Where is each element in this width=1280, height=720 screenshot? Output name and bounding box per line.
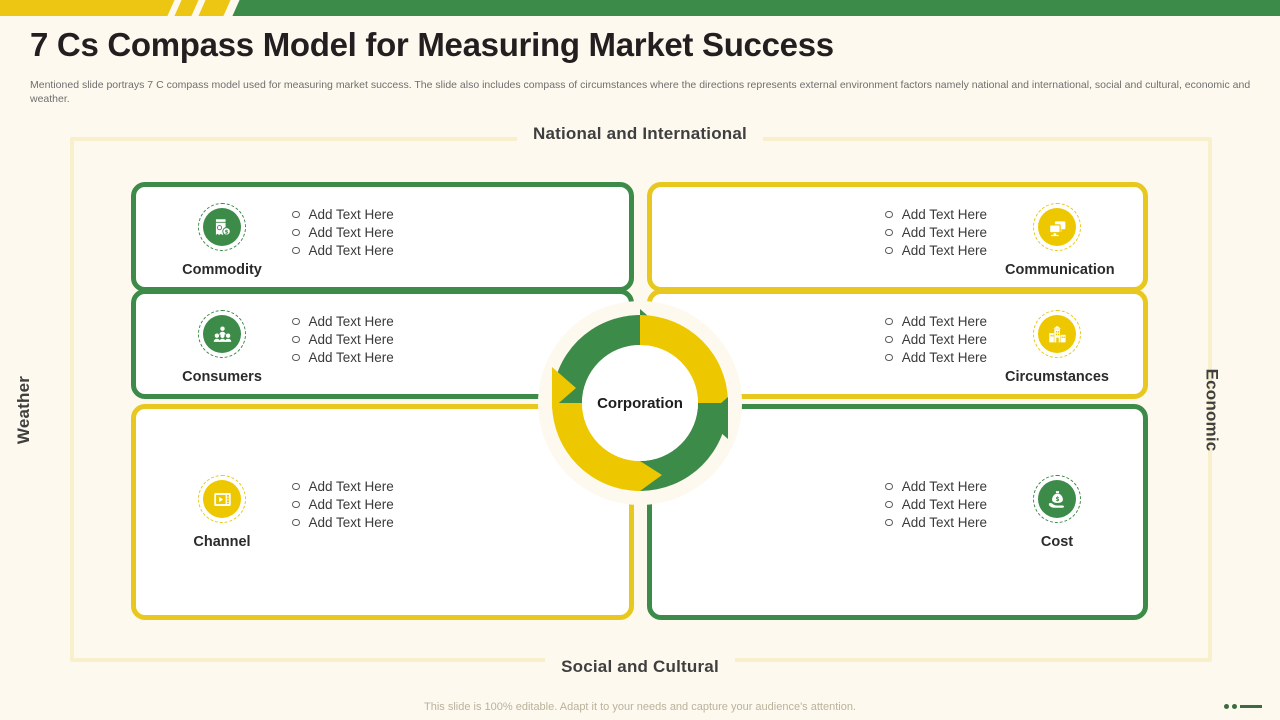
list-item: Add Text Here: [292, 224, 394, 242]
media-player-icon: [203, 480, 241, 518]
bullet-circle-icon: [292, 318, 300, 326]
list-item: Add Text Here: [292, 478, 394, 496]
list-item-label: Add Text Here: [902, 496, 987, 514]
card-channel-icon-block: Channel: [170, 475, 274, 550]
list-item: Add Text Here: [292, 242, 394, 260]
card-consumers-icon-block: Consumers: [170, 310, 274, 385]
list-item-label: Add Text Here: [902, 478, 987, 496]
card-channel-caption: Channel: [170, 534, 274, 550]
list-item: Add Text Here: [885, 514, 987, 532]
monitor-screens-icon: [1038, 208, 1076, 246]
footer-note: This slide is 100% editable. Adapt it to…: [0, 701, 1280, 713]
bullet-circle-icon: [292, 336, 300, 344]
card-commodity[interactable]: $ Commodity Add Text Here Add Text Here …: [131, 182, 634, 292]
bullet-circle-icon: [292, 483, 300, 491]
list-item-label: Add Text Here: [309, 514, 394, 532]
wheel-center-label: Corporation: [538, 301, 742, 505]
list-item-label: Add Text Here: [902, 514, 987, 532]
list-item-label: Add Text Here: [902, 224, 987, 242]
list-item: Add Text Here: [292, 349, 394, 367]
dashed-ring: $: [1033, 475, 1081, 523]
list-item-label: Add Text Here: [309, 349, 394, 367]
footer-decoration: [1224, 704, 1262, 709]
list-item-label: Add Text Here: [309, 224, 394, 242]
list-item: Add Text Here: [292, 331, 394, 349]
bullet-circle-icon: [885, 336, 893, 344]
list-item: Add Text Here: [885, 349, 987, 367]
card-channel-content: Channel Add Text Here Add Text Here Add …: [170, 475, 394, 550]
bullet-circle-icon: [292, 354, 300, 362]
card-communication-caption: Communication: [1005, 262, 1109, 278]
list-item-label: Add Text Here: [309, 478, 394, 496]
list-item: Add Text Here: [292, 496, 394, 514]
list-item-label: Add Text Here: [309, 313, 394, 331]
footer-dash-icon: [1240, 705, 1262, 708]
list-item: Add Text Here: [885, 496, 987, 514]
card-channel-bullets: Add Text Here Add Text Here Add Text Her…: [292, 475, 394, 533]
card-cost-content: $ Cost Add Text Here Add Text Here Add T…: [885, 475, 1109, 550]
card-circumstances-content: Circumstances Add Text Here Add Text Her…: [885, 310, 1109, 385]
bullet-circle-icon: [292, 229, 300, 237]
topbar-yellow-dash-1: [174, 0, 198, 16]
axis-label-bottom: Social and Cultural: [0, 657, 1280, 677]
card-cost-icon-block: $ Cost: [1005, 475, 1109, 550]
corporation-wheel: Corporation: [538, 301, 742, 505]
card-consumers-caption: Consumers: [170, 369, 274, 385]
bullet-circle-icon: [292, 211, 300, 219]
bullet-circle-icon: [885, 501, 893, 509]
bullet-circle-icon: [885, 211, 893, 219]
bullet-circle-icon: [885, 318, 893, 326]
list-item: Add Text Here: [885, 224, 987, 242]
people-group-icon: [203, 315, 241, 353]
bullet-circle-icon: [292, 519, 300, 527]
axis-label-left: Weather: [14, 376, 34, 444]
axis-label-top: National and International: [0, 124, 1280, 144]
dashed-ring: [198, 310, 246, 358]
svg-text:$: $: [224, 229, 228, 235]
card-commodity-bullets: Add Text Here Add Text Here Add Text Her…: [292, 203, 394, 261]
card-cost-bullets: Add Text Here Add Text Here Add Text Her…: [885, 475, 987, 533]
bullet-circle-icon: [292, 247, 300, 255]
list-item: Add Text Here: [292, 206, 394, 224]
card-circumstances-caption: Circumstances: [1005, 369, 1109, 385]
receipt-money-icon: $: [203, 208, 241, 246]
footer-dot-icon: [1232, 704, 1237, 709]
dashed-ring: $: [198, 203, 246, 251]
list-item: Add Text Here: [885, 478, 987, 496]
svg-text:$: $: [1055, 496, 1059, 502]
card-commodity-icon-block: $ Commodity: [170, 203, 274, 278]
axis-label-right: Economic: [1201, 369, 1221, 452]
card-circumstances-bullets: Add Text Here Add Text Here Add Text Her…: [885, 310, 987, 368]
topbar-yellow-segment: [0, 0, 175, 16]
list-item-label: Add Text Here: [902, 206, 987, 224]
dashed-ring: [198, 475, 246, 523]
card-consumers-bullets: Add Text Here Add Text Here Add Text Her…: [292, 310, 394, 368]
list-item: Add Text Here: [885, 331, 987, 349]
card-communication-icon-block: Communication: [1005, 203, 1109, 278]
list-item: Add Text Here: [292, 514, 394, 532]
axis-label-top-text: National and International: [517, 124, 763, 143]
list-item: Add Text Here: [292, 313, 394, 331]
dashed-ring: [1033, 310, 1081, 358]
list-item-label: Add Text Here: [309, 331, 394, 349]
buildings-icon: [1038, 315, 1076, 353]
footer-dot-icon: [1224, 704, 1229, 709]
bullet-circle-icon: [885, 483, 893, 491]
bullet-circle-icon: [885, 229, 893, 237]
card-communication-bullets: Add Text Here Add Text Here Add Text Her…: [885, 203, 987, 261]
card-cost-caption: Cost: [1005, 534, 1109, 550]
card-commodity-caption: Commodity: [170, 262, 274, 278]
list-item: Add Text Here: [885, 242, 987, 260]
bullet-circle-icon: [292, 501, 300, 509]
list-item-label: Add Text Here: [902, 242, 987, 260]
dashed-ring: [1033, 203, 1081, 251]
list-item-label: Add Text Here: [902, 331, 987, 349]
list-item-label: Add Text Here: [309, 206, 394, 224]
bullet-circle-icon: [885, 519, 893, 527]
list-item-label: Add Text Here: [902, 349, 987, 367]
list-item-label: Add Text Here: [309, 242, 394, 260]
bullet-circle-icon: [885, 354, 893, 362]
list-item: Add Text Here: [885, 313, 987, 331]
list-item: Add Text Here: [885, 206, 987, 224]
card-consumers-content: Consumers Add Text Here Add Text Here Ad…: [170, 310, 394, 385]
page-subtitle: Mentioned slide portrays 7 C compass mod…: [30, 78, 1252, 106]
list-item-label: Add Text Here: [902, 313, 987, 331]
bullet-circle-icon: [885, 247, 893, 255]
card-communication[interactable]: Communication Add Text Here Add Text Her…: [647, 182, 1148, 292]
card-communication-content: Communication Add Text Here Add Text Her…: [885, 203, 1109, 278]
page-title: 7 Cs Compass Model for Measuring Market …: [30, 26, 834, 64]
money-bag-hand-icon: $: [1038, 480, 1076, 518]
card-commodity-content: $ Commodity Add Text Here Add Text Here …: [170, 203, 394, 278]
topbar-green-segment: [232, 0, 1280, 16]
card-circumstances-icon-block: Circumstances: [1005, 310, 1109, 385]
axis-label-bottom-text: Social and Cultural: [545, 657, 735, 676]
list-item-label: Add Text Here: [309, 496, 394, 514]
top-decoration-bar: [0, 0, 1280, 16]
topbar-yellow-dash-2: [198, 0, 230, 16]
